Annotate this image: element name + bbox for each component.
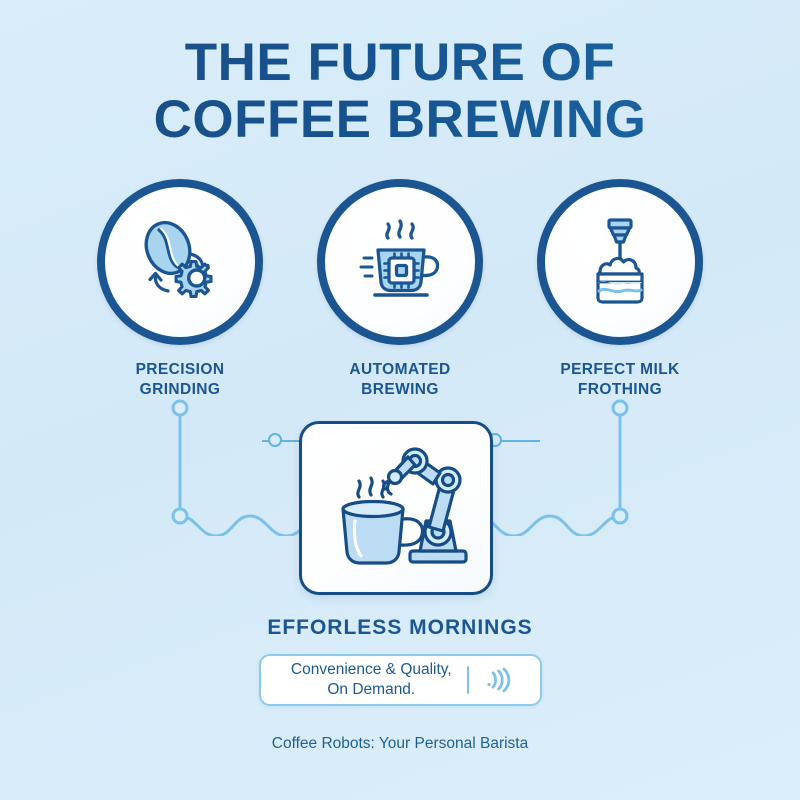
wifi-signal-icon: [482, 665, 512, 695]
title-line-2: COFFEE BREWING: [0, 91, 800, 148]
tagline-pill[interactable]: Convenience & Quality, On Demand.: [259, 654, 542, 706]
title-line-1: THE FUTURE OF: [0, 34, 800, 91]
step-label-line-2: BREWING: [317, 380, 483, 400]
hero-panel[interactable]: [299, 421, 493, 595]
hero-caption: EFFORLESS MORNINGS: [0, 616, 800, 640]
pill-divider: [467, 666, 469, 694]
decorative-wave-left: [160, 396, 320, 541]
decorative-wave-right: [480, 396, 640, 541]
step-label-line-1: PRECISION: [97, 360, 263, 380]
step-label-line-1: PERFECT MILK: [537, 360, 703, 380]
tagline-line-1: Convenience & Quality,: [291, 660, 452, 680]
step-perfect-milk-frothing[interactable]: PERFECT MILK FROTHING: [537, 179, 703, 400]
step-label: PERFECT MILK FROTHING: [537, 360, 703, 400]
step-label: AUTOMATED BREWING: [317, 360, 483, 400]
footer-text: Coffee Robots: Your Personal Barista: [0, 735, 800, 753]
robot-arm-coffee-cup-icon: [316, 435, 476, 582]
step-circle: [537, 179, 703, 345]
cup-microchip-icon: [348, 210, 452, 314]
step-circle: [97, 179, 263, 345]
step-automated-brewing[interactable]: AUTOMATED BREWING: [317, 179, 483, 400]
coffee-bean-gear-icon: [128, 210, 232, 314]
tagline-text: Convenience & Quality, On Demand.: [281, 660, 452, 700]
tagline-line-2: On Demand.: [291, 680, 452, 700]
step-label: PRECISION GRINDING: [97, 360, 263, 400]
step-precision-grinding[interactable]: PRECISION GRINDING: [97, 179, 263, 400]
milk-frother-icon: [568, 210, 672, 314]
step-label-line-1: AUTOMATED: [317, 360, 483, 380]
infographic-canvas: THE FUTURE OF COFFEE BREWING: [0, 0, 800, 800]
steps-row: PRECISION GRINDING: [0, 179, 800, 389]
step-circle: [317, 179, 483, 345]
page-title: THE FUTURE OF COFFEE BREWING: [0, 34, 800, 148]
